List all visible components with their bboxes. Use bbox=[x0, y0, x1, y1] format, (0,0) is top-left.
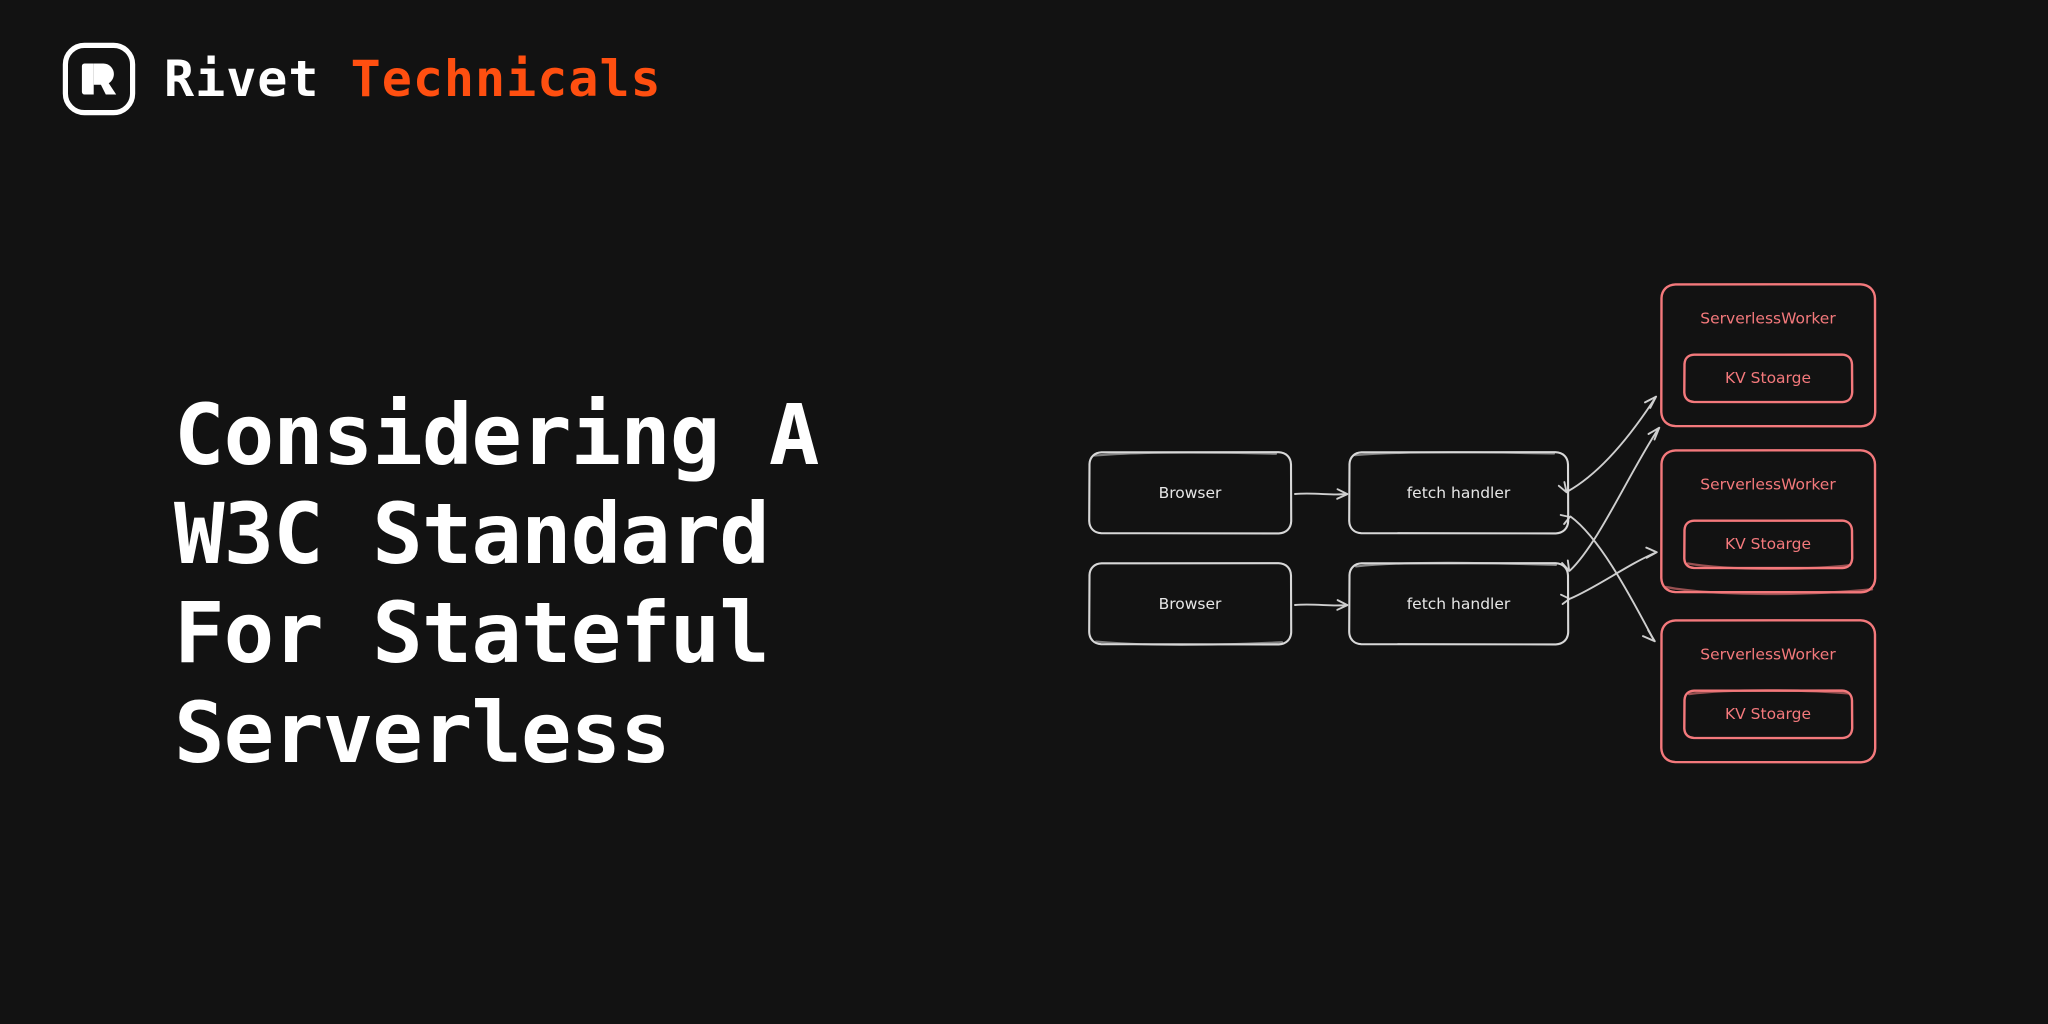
page-title: Considering A W3C Standard For Stateful … bbox=[174, 386, 934, 782]
diagram-node-label: KV Stoarge bbox=[1725, 705, 1811, 723]
headline-line-3: For Stateful bbox=[174, 584, 934, 683]
diagram-node-serverless-worker-3[interactable]: ServerlessWorker KV Stoarge bbox=[1661, 620, 1875, 762]
diagram-node-kv-storage-3[interactable]: KV Stoarge bbox=[1684, 690, 1852, 738]
headline-line-2: W3C Standard bbox=[174, 485, 934, 584]
diagram-node-label: KV Stoarge bbox=[1725, 535, 1811, 553]
architecture-diagram: Browser Browser fetch handler fetch hand… bbox=[1024, 0, 2048, 1024]
diagram-node-serverless-worker-2[interactable]: ServerlessWorker KV Stoarge bbox=[1661, 450, 1875, 594]
brand-suffix: Technicals bbox=[351, 50, 662, 108]
brand-wordmark: Rivet Technicals bbox=[164, 54, 662, 104]
diagram-node-label: fetch handler bbox=[1407, 484, 1511, 502]
diagram-node-label: ServerlessWorker bbox=[1700, 310, 1836, 328]
diagram-node-fetch-handler-2[interactable]: fetch handler bbox=[1349, 563, 1568, 645]
diagram-node-fetch-handler-1[interactable]: fetch handler bbox=[1349, 452, 1568, 533]
diagram-node-label: ServerlessWorker bbox=[1700, 646, 1836, 664]
brand-header: Rivet Technicals bbox=[62, 42, 662, 116]
diagram-node-browser-1[interactable]: Browser bbox=[1089, 452, 1291, 533]
headline-line-1: Considering A bbox=[174, 386, 934, 485]
edge-fetch2-worker2 bbox=[1561, 548, 1657, 604]
brand-name: Rivet bbox=[164, 50, 320, 108]
edge-fetch1-worker1 bbox=[1559, 397, 1656, 493]
edge-browser2-fetch2 bbox=[1295, 600, 1347, 610]
rivet-r-logo-icon bbox=[62, 42, 136, 116]
edge-fetch2-worker1 bbox=[1562, 428, 1659, 571]
diagram-node-serverless-worker-1[interactable]: ServerlessWorker KV Stoarge bbox=[1661, 284, 1875, 426]
diagram-node-kv-storage-1[interactable]: KV Stoarge bbox=[1684, 355, 1852, 403]
diagram-node-browser-2[interactable]: Browser bbox=[1089, 563, 1291, 645]
diagram-node-label: KV Stoarge bbox=[1725, 369, 1811, 387]
diagram-node-label: Browser bbox=[1159, 484, 1222, 502]
diagram-node-kv-storage-2[interactable]: KV Stoarge bbox=[1684, 521, 1852, 569]
diagram-node-label: fetch handler bbox=[1407, 595, 1511, 613]
diagram-node-label: Browser bbox=[1159, 595, 1222, 613]
headline-line-4: Serverless bbox=[174, 684, 934, 783]
diagram-node-label: ServerlessWorker bbox=[1700, 476, 1836, 494]
brand-space bbox=[320, 50, 351, 108]
edge-browser1-fetch1 bbox=[1295, 489, 1347, 499]
